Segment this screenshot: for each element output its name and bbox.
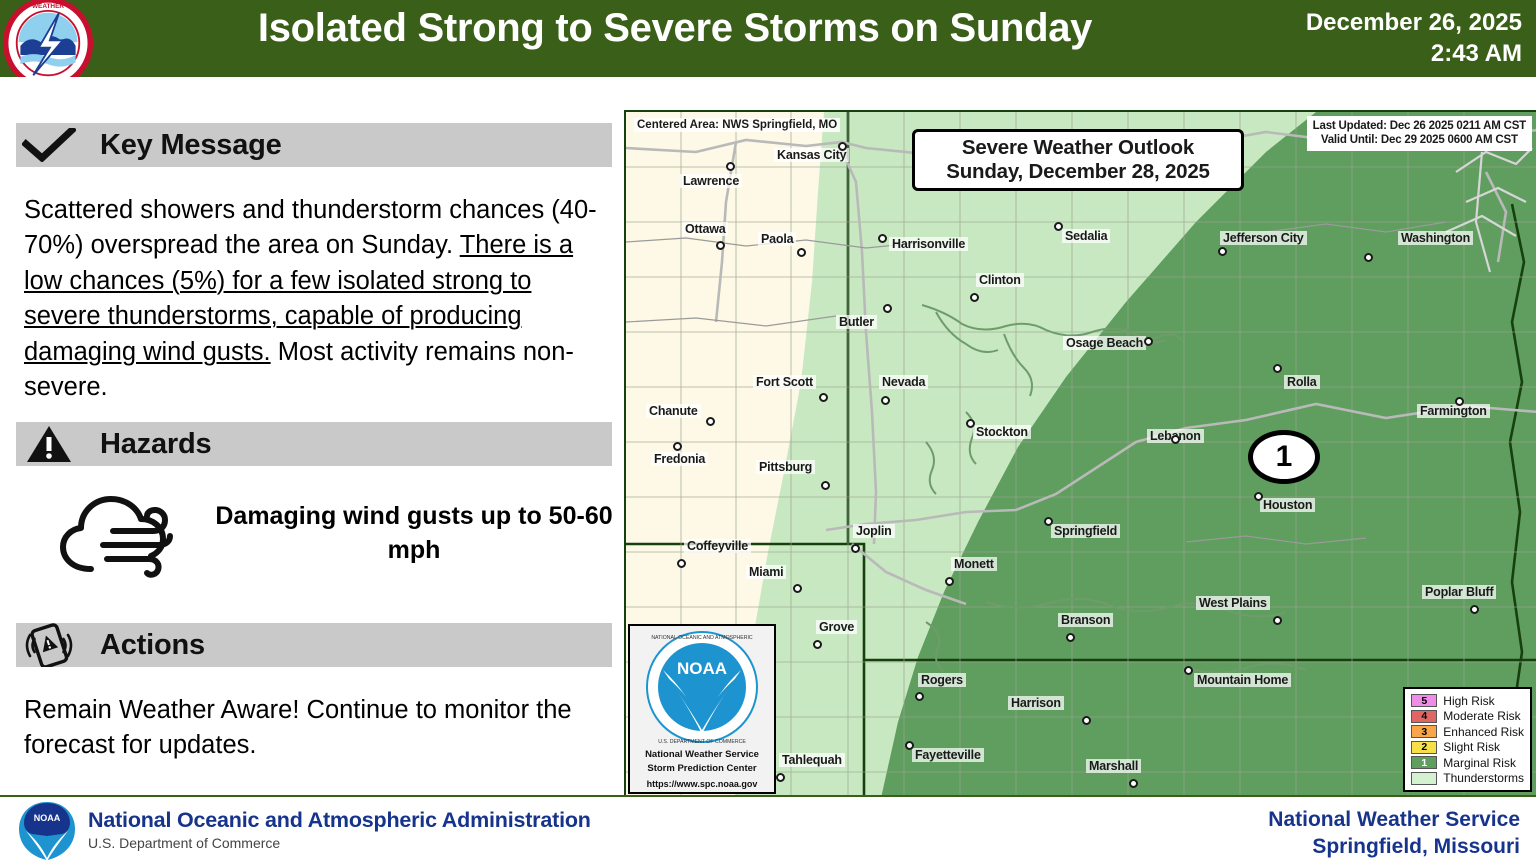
city-dot [1184, 666, 1193, 675]
city-dot [1144, 337, 1153, 346]
footer-office-line1: National Weather Service [1268, 807, 1520, 834]
city-dot [1364, 253, 1373, 262]
hazard-text: Damaging wind gusts up to 50-60 mph [214, 499, 614, 568]
city-label: Coffeyville [684, 539, 751, 553]
city-label: Chanute [646, 404, 701, 418]
legend-swatch: 5 [1411, 694, 1437, 707]
footer-noaa-title: National Oceanic and Atmospheric Adminis… [88, 808, 591, 833]
city-label: Nevada [879, 375, 928, 389]
city-label: Washington [1398, 231, 1473, 245]
city-label: Stockton [973, 425, 1031, 439]
city-dot [905, 741, 914, 750]
footer-noaa-subtitle: U.S. Department of Commerce [88, 835, 591, 851]
header-date: December 26, 2025 [1306, 8, 1522, 39]
city-label: Jefferson City [1220, 231, 1307, 245]
city-dot [776, 773, 785, 782]
city-label: Mountain Home [1194, 673, 1291, 687]
city-dot [878, 234, 887, 243]
city-dot [1082, 716, 1091, 725]
city-dot [945, 577, 954, 586]
city-dot [1273, 364, 1282, 373]
spc-line2: Storm Prediction Center [645, 762, 759, 776]
spc-logo-box: NOAA NATIONAL OCEANIC AND ATMOSPHERIC U.… [628, 624, 776, 794]
svg-text:NATIONAL OCEANIC AND ATMOSPHER: NATIONAL OCEANIC AND ATMOSPHERIC [651, 635, 753, 641]
city-dot [838, 142, 847, 151]
legend-row: Thunderstorms [1411, 771, 1524, 787]
city-dot [1470, 605, 1479, 614]
city-dot [1044, 517, 1053, 526]
svg-text:NOAA: NOAA [34, 813, 61, 823]
legend-swatch: 4 [1411, 710, 1437, 723]
city-label: Harrison [1008, 696, 1064, 710]
page-title: Isolated Strong to Severe Storms on Sund… [120, 6, 1230, 51]
city-dot [677, 559, 686, 568]
city-dot [1171, 435, 1180, 444]
city-dot [915, 692, 924, 701]
legend-label: Moderate Risk [1443, 709, 1520, 723]
legend-swatch: 2 [1411, 741, 1437, 754]
city-dot [793, 584, 802, 593]
city-label: Harrisonville [889, 237, 968, 251]
city-dot [813, 640, 822, 649]
city-label: Springfield [1051, 524, 1120, 538]
outlook-title-line1: Severe Weather Outlook [962, 136, 1194, 160]
city-dot [1254, 492, 1263, 501]
left-info-panel: Key Message Scattered showers and thunde… [0, 77, 624, 795]
outlook-title-box: Severe Weather Outlook Sunday, December … [912, 129, 1244, 191]
legend-swatch: 3 [1411, 725, 1437, 738]
city-dot [883, 304, 892, 313]
checkmark-icon [16, 123, 82, 167]
city-label: Joplin [853, 524, 895, 538]
key-message-section-header: Key Message [16, 123, 612, 167]
severe-weather-outlook-map[interactable]: Centered Area: NWS Springfield, MO Sever… [624, 110, 1536, 796]
noaa-logo-icon: NOAA NATIONAL OCEANIC AND ATMOSPHERIC U.… [643, 630, 761, 746]
city-label: Fort Scott [753, 375, 816, 389]
hazards-title: Hazards [100, 428, 211, 461]
legend-label: Slight Risk [1443, 740, 1500, 754]
city-label: Ottawa [682, 222, 728, 236]
hazards-section-header: Hazards [16, 422, 612, 466]
city-dot [797, 248, 806, 257]
legend-row: 1Marginal Risk [1411, 755, 1524, 771]
city-dot [726, 162, 735, 171]
legend-label: Thunderstorms [1443, 771, 1524, 785]
city-dot [821, 481, 830, 490]
city-dot [1066, 633, 1075, 642]
outlook-title-line2: Sunday, December 28, 2025 [946, 160, 1210, 184]
footer-office-line2: Springfield, Missouri [1268, 834, 1520, 861]
city-label: Butler [836, 315, 877, 329]
city-dot [1054, 222, 1063, 231]
city-label: Miami [746, 565, 786, 579]
phone-alert-icon [16, 623, 82, 667]
city-label: Rogers [918, 673, 966, 687]
city-label: Farmington [1417, 404, 1490, 418]
city-label: Tahlequah [779, 753, 845, 767]
noaa-logo-icon: NOAA [18, 801, 76, 861]
updated-info-box: Last Updated: Dec 26 2025 0211 AM CST Va… [1307, 116, 1532, 151]
city-label: Poplar Bluff [1422, 585, 1496, 599]
city-label: Paola [758, 232, 796, 246]
city-label: Rolla [1284, 375, 1320, 389]
spc-line1: National Weather Service [645, 748, 759, 762]
city-dot [881, 396, 890, 405]
last-updated-text: Last Updated: Dec 26 2025 0211 AM CST [1313, 119, 1526, 133]
city-label: West Plains [1196, 596, 1270, 610]
city-dot [1129, 779, 1138, 788]
page-header: WEATHER ★ ★ ★ Isolated Strong to Severe … [0, 0, 1536, 77]
city-dot [1218, 247, 1227, 256]
legend-label: Marginal Risk [1443, 756, 1516, 770]
city-label: Kansas City [774, 148, 849, 162]
city-dot [1273, 616, 1282, 625]
city-label: Lawrence [680, 174, 742, 188]
city-label: Marshall [1086, 759, 1141, 773]
warning-triangle-icon [16, 422, 82, 466]
header-datetime: December 26, 2025 2:43 AM [1306, 8, 1522, 69]
legend-row: 5High Risk [1411, 693, 1524, 709]
key-message-title: Key Message [100, 129, 282, 162]
page-footer: NOAA National Oceanic and Atmospheric Ad… [0, 795, 1536, 864]
header-time: 2:43 AM [1306, 39, 1522, 70]
svg-text:NOAA: NOAA [677, 659, 727, 678]
legend-label: Enhanced Risk [1443, 725, 1524, 739]
city-dot [851, 544, 860, 553]
actions-section-header: Actions [16, 623, 612, 667]
risk-legend: 5High Risk4Moderate Risk3Enhanced Risk2S… [1403, 687, 1532, 792]
wind-cloud-icon [24, 485, 214, 581]
risk-level-marker: 1 [1248, 430, 1320, 484]
city-label: Sedalia [1062, 229, 1110, 243]
hazard-item: Damaging wind gusts up to 50-60 mph [24, 477, 614, 589]
city-dot [706, 417, 715, 426]
city-dot [819, 393, 828, 402]
actions-title: Actions [100, 629, 205, 662]
footer-office: National Weather Service Springfield, Mi… [1268, 807, 1520, 861]
city-label: Fayetteville [912, 748, 984, 762]
city-label: Clinton [976, 273, 1024, 287]
city-dot [673, 442, 682, 451]
legend-label: High Risk [1443, 694, 1494, 708]
city-label: Osage Beach [1063, 336, 1146, 350]
city-label: Fredonia [651, 452, 708, 466]
key-message-body: Scattered showers and thunderstorm chanc… [24, 193, 612, 406]
city-dot [716, 241, 725, 250]
city-dot [966, 419, 975, 428]
valid-until-text: Valid Until: Dec 29 2025 0600 AM CST [1313, 133, 1526, 147]
city-label: Grove [816, 620, 857, 634]
city-dot [1455, 397, 1464, 406]
city-dot [970, 293, 979, 302]
svg-text:WEATHER: WEATHER [32, 3, 64, 10]
footer-noaa-text: National Oceanic and Atmospheric Adminis… [88, 808, 591, 851]
city-label: Pittsburg [756, 460, 815, 474]
svg-text:U.S. DEPARTMENT OF COMMERCE: U.S. DEPARTMENT OF COMMERCE [658, 739, 746, 745]
city-label: Branson [1058, 613, 1113, 627]
city-label: Monett [951, 557, 997, 571]
legend-row: 4Moderate Risk [1411, 709, 1524, 725]
centered-area-label: Centered Area: NWS Springfield, MO [634, 118, 840, 132]
spc-url[interactable]: https://www.spc.noaa.gov [645, 778, 759, 791]
actions-body: Remain Weather Aware! Continue to monito… [24, 693, 612, 764]
legend-row: 3Enhanced Risk [1411, 724, 1524, 740]
legend-swatch [1411, 772, 1437, 785]
legend-swatch: 1 [1411, 756, 1437, 769]
legend-row: 2Slight Risk [1411, 740, 1524, 756]
city-label: Houston [1260, 498, 1315, 512]
